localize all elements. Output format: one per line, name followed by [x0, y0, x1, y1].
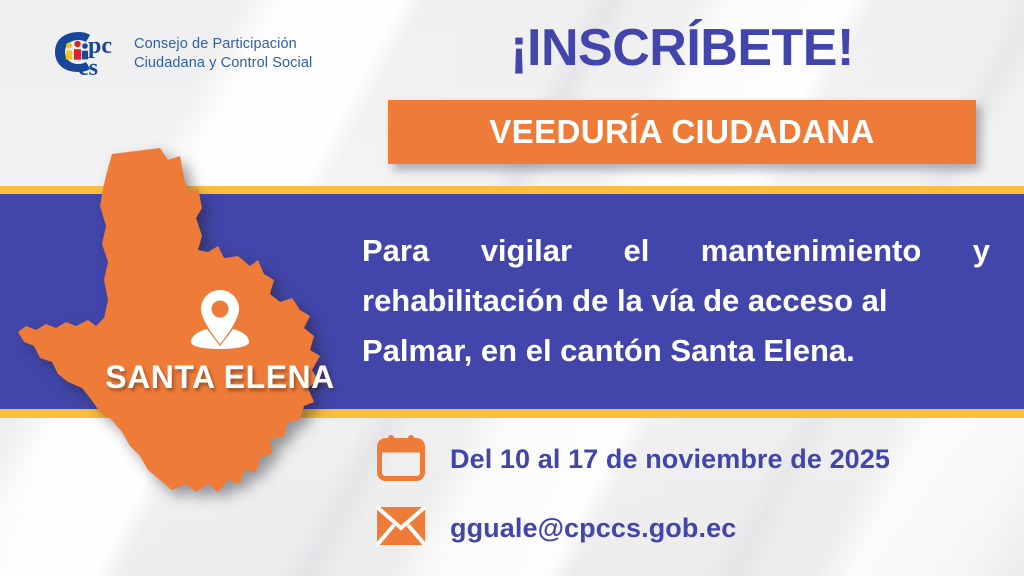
description-line-last: Palmar, en el cantón Santa Elena. — [362, 326, 990, 376]
description-line-main: Para vigilar el mantenimiento y rehabili… — [362, 233, 990, 318]
description-text: Para vigilar el mantenimiento y rehabili… — [362, 226, 990, 377]
registration-date-row: Del 10 al 17 de noviembre de 2025 — [376, 432, 890, 487]
contact-email-text: gguale@cpccs.gob.ec — [450, 513, 736, 544]
map-region-label: SANTA ELENA — [105, 359, 335, 395]
registration-date-text: Del 10 al 17 de noviembre de 2025 — [450, 444, 890, 475]
page-title: ¡INSCRÍBETE! — [388, 18, 976, 78]
location-pin-icon — [95, 288, 345, 355]
svg-text:cs: cs — [78, 55, 98, 80]
cpccs-logo-icon: pc cs — [52, 28, 124, 80]
poster-canvas: pc cs Consejo de Participación Ciudadana… — [0, 0, 1024, 576]
brand-logo-block: pc cs Consejo de Participación Ciudadana… — [52, 28, 312, 80]
envelope-icon — [376, 506, 426, 551]
veeduria-banner: VEEDURÍA CIUDADANA — [388, 100, 976, 164]
organization-name: Consejo de Participación Ciudadana y Con… — [134, 35, 312, 72]
calendar-icon — [376, 432, 426, 487]
veeduria-banner-label: VEEDURÍA CIUDADANA — [489, 113, 875, 151]
map-label-group: SANTA ELENA — [95, 288, 345, 396]
contact-email-row: gguale@cpccs.gob.ec — [376, 506, 736, 551]
